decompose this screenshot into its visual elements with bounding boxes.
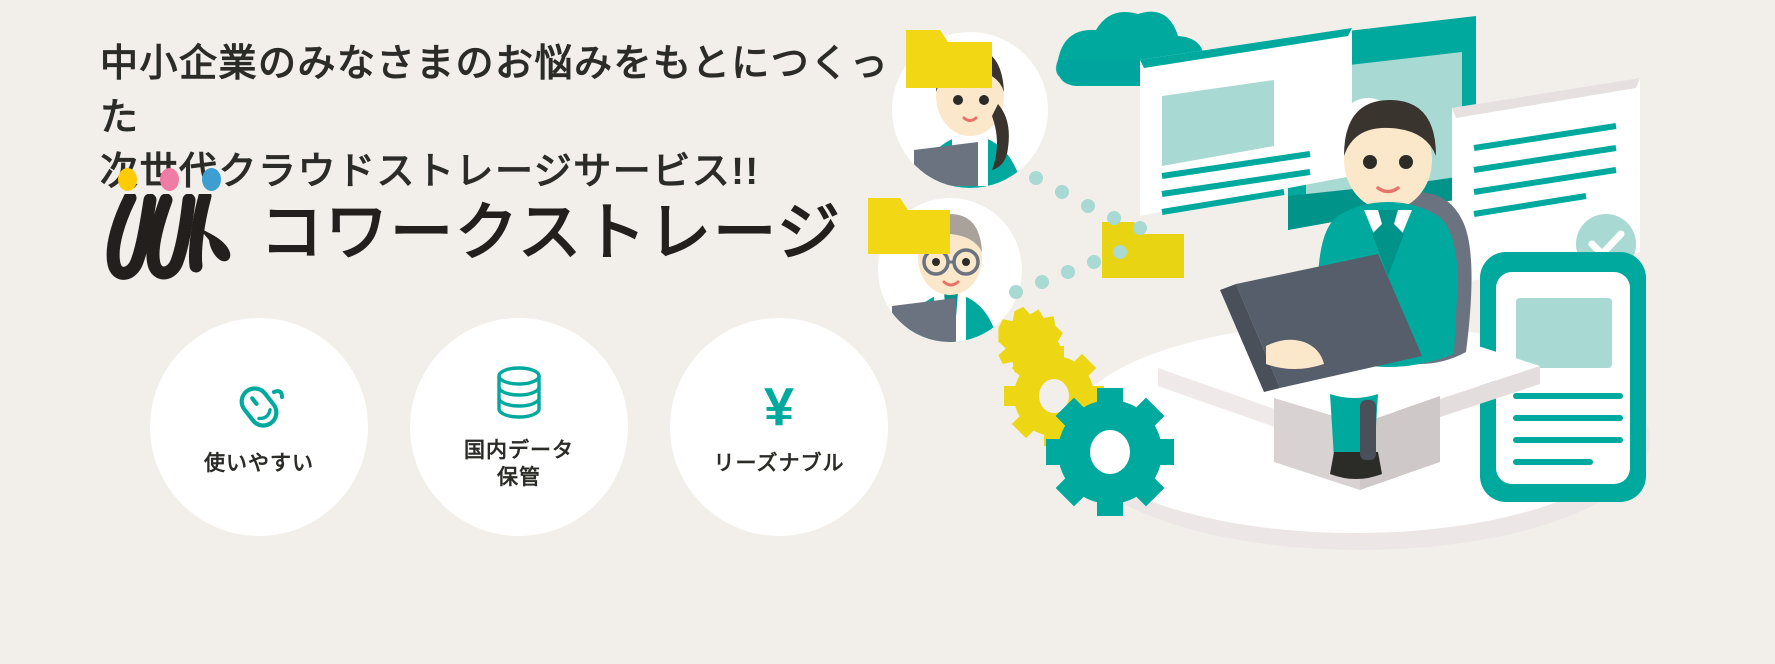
brand-logo[interactable]: コワークストレージ — [100, 168, 842, 283]
hero-banner: 中小企業のみなさまのお悩みをもとにつくった 次世代クラウドストレージサービス!!… — [0, 0, 1775, 664]
feature-label: リーズナブル — [714, 450, 845, 477]
feature-label: 使いやすい — [204, 450, 314, 477]
feature-card-usability[interactable]: 使いやすい — [150, 318, 368, 536]
logo-w-glyph-icon — [100, 194, 240, 284]
feature-card-domestic-data[interactable]: 国内データ 保管 — [410, 318, 628, 536]
feature-list: 使いやすい 国内データ 保管 ¥ リーズナブル — [150, 318, 888, 536]
logo-mark-icon — [100, 168, 240, 283]
logo-dot-pink-icon — [160, 168, 179, 191]
gear-teal — [1046, 388, 1174, 516]
feature-label: 国内データ 保管 — [464, 437, 574, 492]
logo-dot-blue-icon — [202, 168, 221, 191]
logo-wordmark: コワークストレージ — [260, 182, 842, 273]
cloud-storage-teamwork-illustration — [840, 0, 1775, 664]
yen-glyph: ¥ — [764, 380, 794, 434]
database-icon — [492, 363, 546, 425]
mouse-icon — [230, 376, 288, 438]
yen-icon: ¥ — [764, 376, 794, 438]
logo-dot-yellow-icon — [118, 168, 137, 191]
